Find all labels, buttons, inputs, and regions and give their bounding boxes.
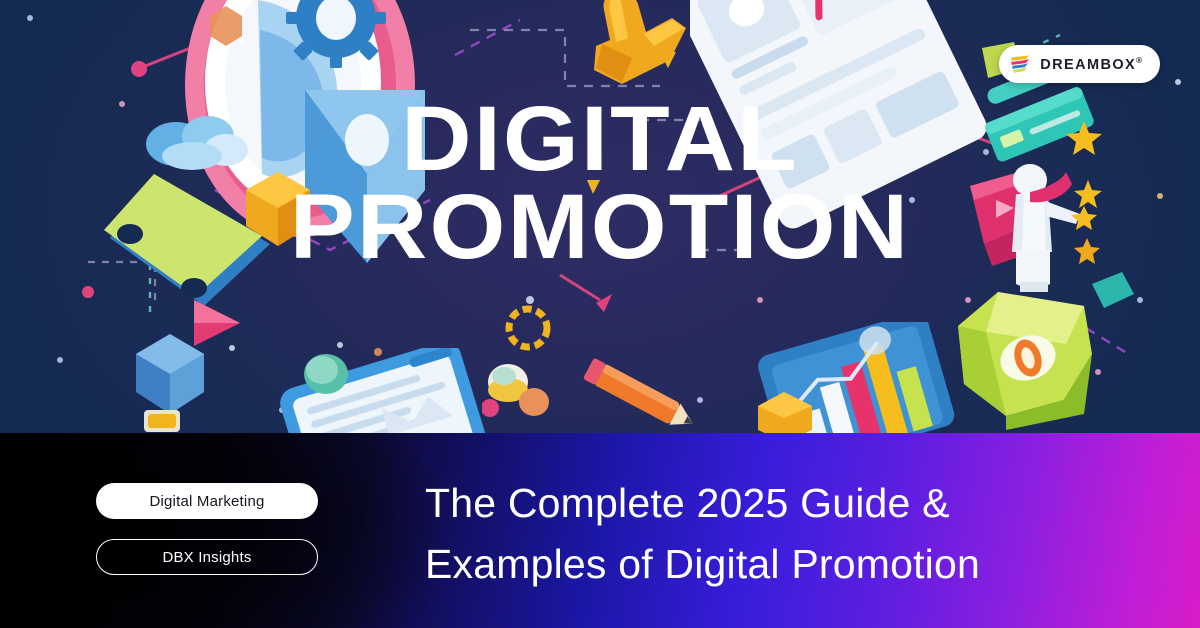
teal-blob-icon [300,350,352,398]
logo-registered-mark: ® [1136,56,1142,65]
colored-sphere-cluster [482,352,556,422]
blue-cube [128,330,212,420]
hero-headline: DIGITAL PROMOTION [0,95,1200,272]
tag-digital-marketing[interactable]: Digital Marketing [96,483,318,519]
small-accent-shapes-right-2 [1082,268,1142,318]
tag-label: Digital Marketing [149,493,264,510]
logo-wordmark: DREAMBOX [1040,56,1136,72]
dreambox-logo-text: DREAMBOX® [1040,56,1142,73]
hero-headline-line-2: PROMOTION [0,183,1200,271]
dreambox-swoosh-icon [1009,53,1031,75]
orange-pencil [566,354,706,433]
orange-pointing-hand-icon [576,0,706,98]
social-share-banner: DIGITAL PROMOTION DREAMBOX® Digital Mark… [0,0,1200,628]
article-title: The Complete 2025 Guide & Examples of Di… [425,473,1165,594]
article-title-line-2: Examples of Digital Promotion [425,534,1165,595]
tag-dbx-insights[interactable]: DBX Insights [96,539,318,575]
tag-group: Digital Marketing DBX Insights [96,483,318,575]
hero-headline-line-1: DIGITAL [0,95,1200,183]
yellow-chip-icon [142,408,182,433]
small-accent-shapes-left [96,0,246,60]
tag-label: DBX Insights [162,549,251,566]
article-title-line-1: The Complete 2025 Guide & [425,473,1165,534]
footer-panel: Digital Marketing DBX Insights The Compl… [0,433,1200,628]
orange-hex-badge [750,388,820,433]
yellow-gear-ring [500,300,556,356]
hero-illustration-panel: DIGITAL PROMOTION DREAMBOX® [0,0,1200,433]
dreambox-logo-badge[interactable]: DREAMBOX® [999,45,1160,83]
